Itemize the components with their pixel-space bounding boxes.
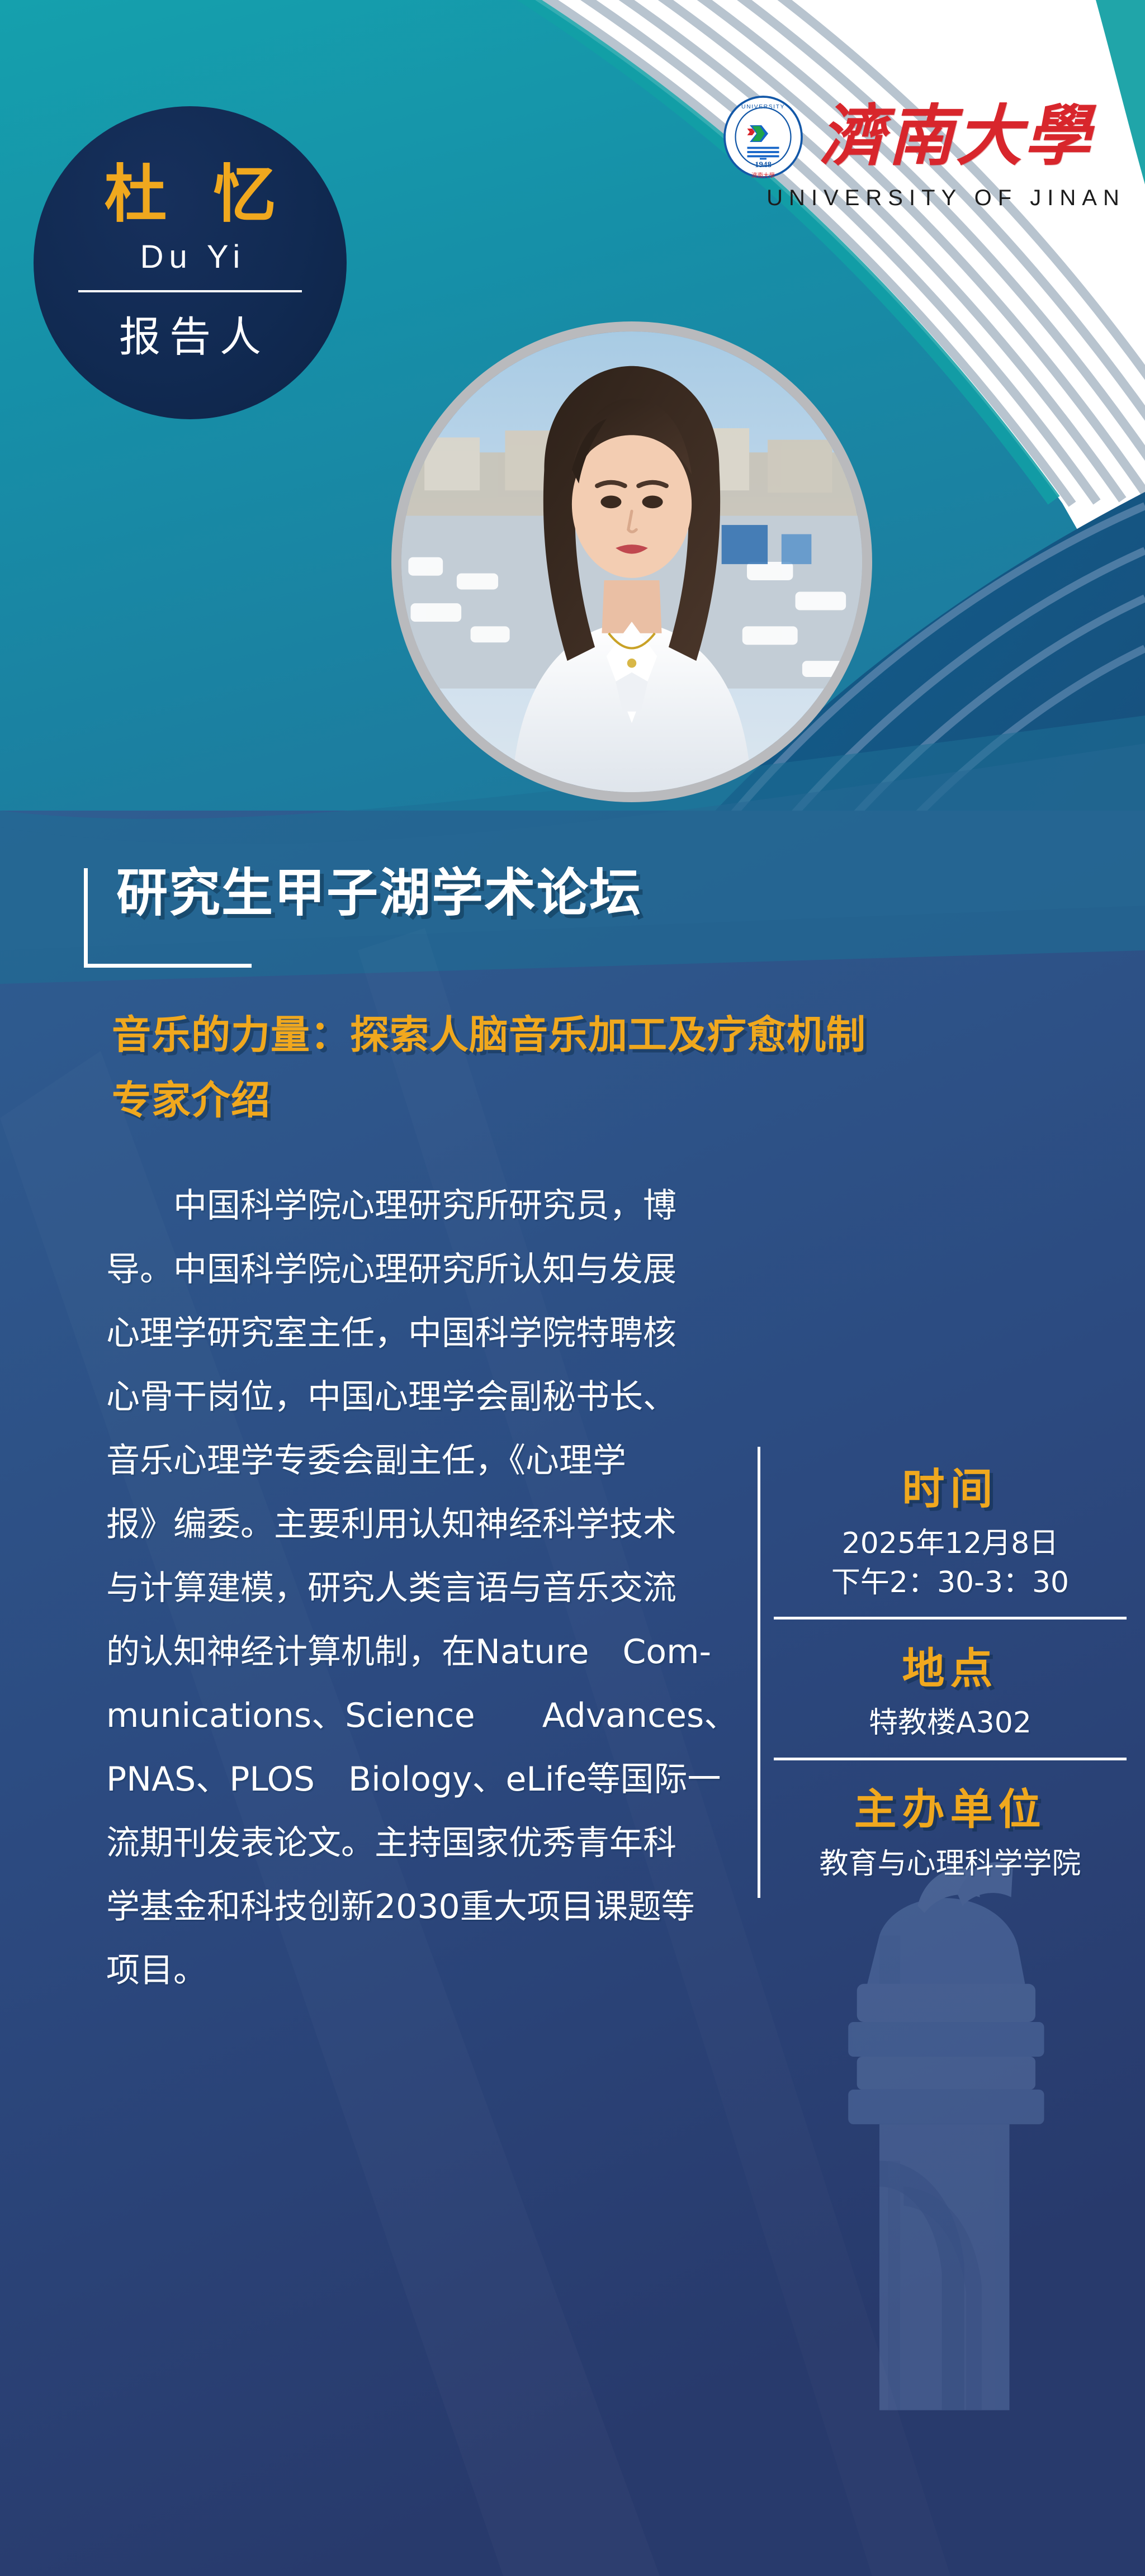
place-heading: 地点: [774, 1634, 1127, 1696]
poster-root: 1948 UNIVERSITY 濟南大學 濟南大學 UNIVERSITY OF …: [0, 0, 1145, 2576]
bio-line: 音乐心理学专委会副主任，《心理学: [106, 1429, 735, 1493]
speaker-bio: 中国科学院心理研究所研究员，博 导。中国科学院心理研究所认知与发展 心理学研究室…: [106, 1174, 735, 2002]
forum-title-wrap: 研究生甲子湖学术论坛: [84, 864, 642, 923]
bio-line: PNAS、PLOS Biology、eLife等国际一: [106, 1748, 735, 1811]
badge-divider: [78, 290, 302, 292]
university-logo: 1948 UNIVERSITY 濟南大學 濟南大學 UNIVERSITY OF …: [706, 95, 1108, 211]
time-date: 2025年12月8日: [774, 1524, 1127, 1563]
bio-line: 项目。: [106, 1939, 735, 2002]
svg-text:濟南大學: 濟南大學: [751, 172, 775, 179]
speaker-portrait: [391, 321, 872, 802]
organizer-heading: 主办单位: [774, 1775, 1127, 1836]
bio-line: 学基金和科技创新2030重大项目课题等: [106, 1875, 735, 1939]
bio-line: munications、Science Advances、: [106, 1684, 735, 1748]
logo-english-name: UNIVERSITY OF JINAN: [767, 186, 1125, 211]
event-info-panel: 时间 2025年12月8日 下午2：30-3：30 地点 特教楼A302 主办单…: [758, 1447, 1127, 1898]
speaker-name: 杜 忆: [105, 162, 288, 228]
time-heading: 时间: [774, 1455, 1127, 1516]
organizer-value: 教育与心理科学学院: [774, 1844, 1127, 1883]
bio-line: 报》编委。主要利用认知神经科学技术: [106, 1493, 735, 1556]
logo-row: 1948 UNIVERSITY 濟南大學 濟南大學: [721, 95, 1092, 179]
page-title: 研究生甲子湖学术论坛: [116, 864, 642, 923]
speaker-role: 报告人: [119, 304, 270, 363]
lecture-title: 音乐的力量：探索人脑音乐加工及疗愈机制: [112, 1003, 866, 1060]
info-block-organizer: 主办单位 教育与心理科学学院: [774, 1758, 1127, 1898]
speaker-pinyin: Du Yi: [140, 238, 246, 276]
bio-line: 的认知神经计算机制，在Nature Com-: [106, 1620, 735, 1684]
svg-text:1948: 1948: [755, 160, 772, 169]
bio-line: 导。中国科学院心理研究所认知与发展: [106, 1238, 735, 1301]
university-seal-icon: 1948 UNIVERSITY 濟南大學: [721, 95, 805, 179]
time-hours: 下午2：30-3：30: [774, 1563, 1127, 1602]
portrait-image: [401, 332, 862, 792]
section-label-expert-intro: 专家介绍: [112, 1069, 271, 1125]
bio-line: 心理学研究室主任，中国科学院特聘核: [106, 1301, 735, 1365]
torch-watermark: [848, 1862, 1044, 2410]
info-block-time: 时间 2025年12月8日 下午2：30-3：30: [774, 1447, 1127, 1617]
logo-chinese-name: 濟南大學: [820, 104, 1092, 170]
place-value: 特教楼A302: [774, 1703, 1127, 1742]
info-block-place: 地点 特教楼A302: [774, 1617, 1127, 1757]
svg-text:UNIVERSITY: UNIVERSITY: [741, 103, 785, 110]
bio-line: 流期刊发表论文。主持国家优秀青年科: [106, 1811, 735, 1875]
speaker-badge: 杜 忆 Du Yi 报告人: [34, 106, 347, 419]
bio-line: 中国科学院心理研究所研究员，博: [106, 1174, 735, 1238]
bio-line: 心骨干岗位，中国心理学会副秘书长、: [106, 1365, 735, 1429]
bio-line: 与计算建模，研究人类言语与音乐交流: [106, 1556, 735, 1620]
